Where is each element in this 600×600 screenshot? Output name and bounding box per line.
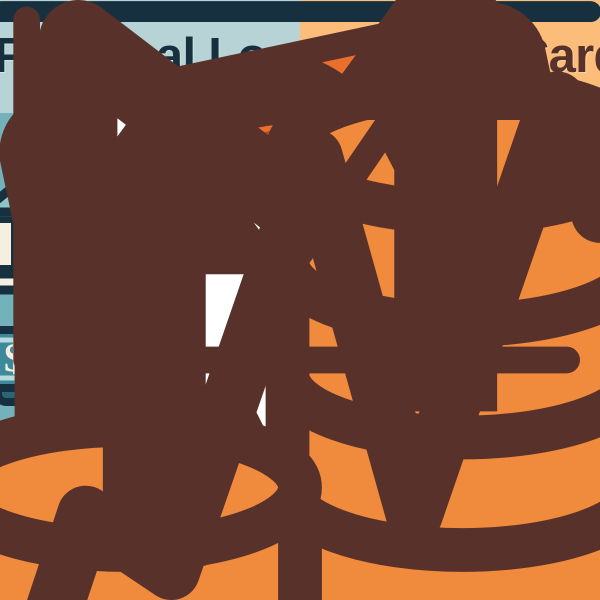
infographic-canvas: Personal Loan vs Credit Card xyxy=(0,0,600,600)
line-chart-icon xyxy=(0,0,600,600)
